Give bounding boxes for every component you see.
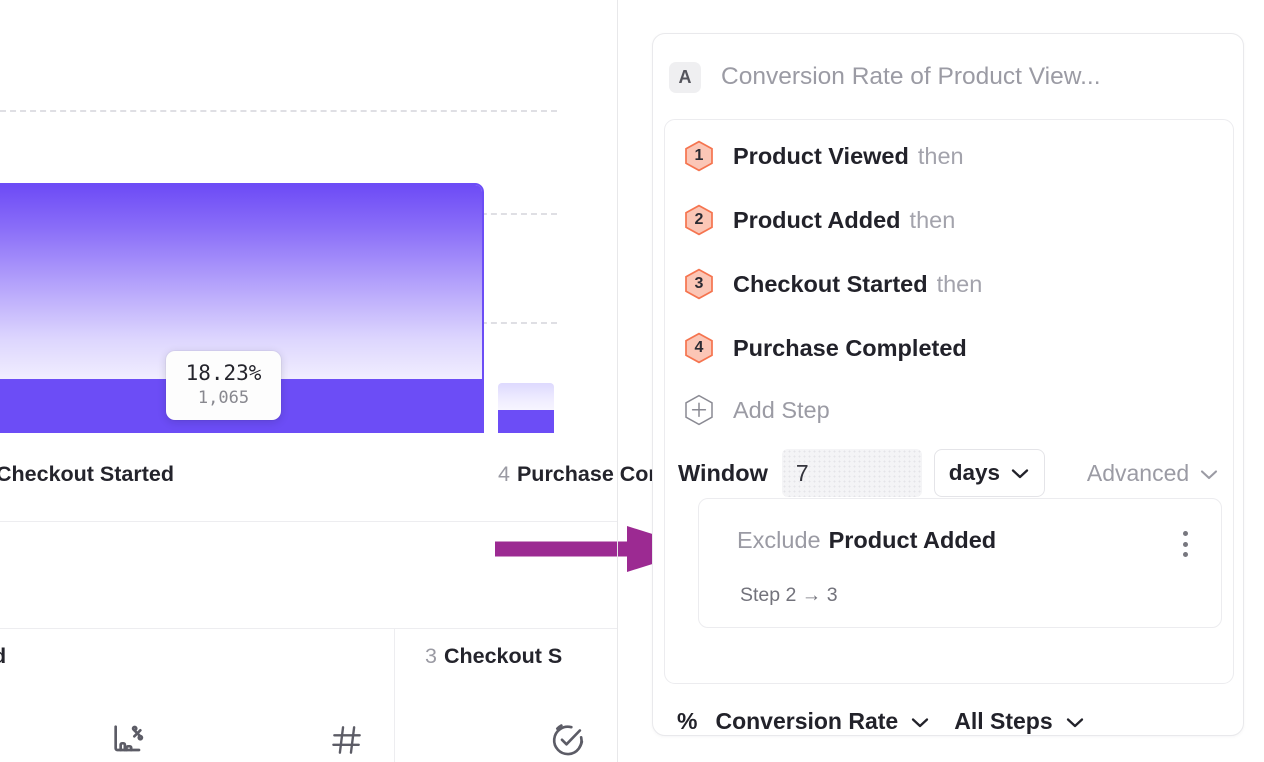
bar-gradient-fill [498, 383, 554, 410]
funnel-config-panel: A Conversion Rate of Product View... 1 P… [652, 33, 1244, 736]
exclude-title: ExcludeProduct Added [737, 527, 996, 554]
step-label[interactable]: Product Added [733, 207, 901, 234]
chevron-down-icon [1199, 460, 1219, 487]
panel-title[interactable]: Conversion Rate of Product View... [721, 63, 1101, 91]
kebab-menu-icon[interactable] [1173, 527, 1197, 561]
exclude-filter-card[interactable]: ExcludeProduct Added Step 2 → 3 [698, 498, 1222, 628]
metric-value: Conversion Rate [715, 708, 898, 735]
add-step-button[interactable]: Add Step [684, 393, 830, 427]
lower-card-number: 3 [425, 644, 437, 668]
add-step-label: Add Step [733, 397, 830, 424]
kebab-dot [1183, 531, 1188, 536]
bar-chart-percent-icon[interactable] [107, 718, 151, 762]
step-label[interactable]: Product Viewed [733, 143, 909, 170]
x-axis-label-text: Checkout Started [0, 462, 174, 486]
lower-card-title-left: d [0, 644, 6, 669]
chevron-down-icon [910, 708, 930, 735]
panel-footer: % Conversion Rate All Steps [677, 706, 1085, 736]
lower-card-title-right: 3Checkout S [425, 644, 562, 669]
window-unit-value: days [949, 460, 1000, 486]
series-letter-badge: A [669, 62, 701, 93]
scope-select[interactable]: All Steps [954, 708, 1084, 735]
screen-root: 18.23% 1,065 Checkout Started 4Purchase … [0, 0, 1264, 762]
step-row-1[interactable]: 1 Product Viewed then [684, 139, 964, 173]
chart-tooltip: 18.23% 1,065 [166, 351, 281, 420]
percent-sign-icon: % [677, 708, 697, 735]
panel-header: A Conversion Rate of Product View... [653, 34, 1245, 120]
x-axis-label-number: 4 [498, 462, 510, 486]
step-label[interactable]: Purchase Completed [733, 335, 967, 362]
step-label[interactable]: Checkout Started [733, 271, 928, 298]
funnel-bar-purchase-completed[interactable] [498, 383, 554, 433]
check-circle-dashed-icon[interactable] [546, 718, 590, 762]
step-number-hexagon-icon: 1 [684, 140, 714, 172]
step-connector: then [910, 207, 956, 234]
hash-icon[interactable] [325, 718, 369, 762]
advanced-toggle[interactable]: Advanced [1087, 460, 1219, 487]
tooltip-count: 1,065 [198, 387, 249, 410]
kebab-dot [1183, 542, 1188, 547]
step-number-hexagon-icon: 2 [684, 204, 714, 236]
lower-card-title-left-text: d [0, 644, 6, 668]
window-unit-select[interactable]: days [934, 449, 1045, 497]
step-number: 3 [695, 276, 704, 292]
step-number-hexagon-icon: 3 [684, 268, 714, 300]
gridline [0, 110, 557, 112]
section-divider [0, 521, 617, 522]
steps-card: 1 Product Viewed then 2 Product Added th… [664, 119, 1234, 684]
window-label: Window [678, 460, 768, 487]
funnel-chart-pane: 18.23% 1,065 Checkout Started 4Purchase … [0, 0, 617, 762]
step-connector: then [918, 143, 964, 170]
scope-value: All Steps [954, 708, 1052, 735]
tooltip-percent: 18.23% [186, 361, 262, 386]
metric-select[interactable]: Conversion Rate [715, 708, 930, 735]
step-number: 1 [695, 148, 704, 164]
x-axis-label-checkout-started: Checkout Started [0, 462, 174, 487]
step-number: 2 [695, 212, 704, 228]
step-row-3[interactable]: 3 Checkout Started then [684, 267, 982, 301]
chevron-down-icon [1010, 460, 1030, 486]
exclude-event-name: Product Added [829, 527, 997, 553]
section-divider-vertical [394, 628, 395, 762]
exclude-prefix: Exclude [737, 527, 821, 553]
window-value-input[interactable]: 7 [782, 449, 922, 497]
step-row-4[interactable]: 4 Purchase Completed [684, 331, 976, 365]
bar-solid-fill [498, 410, 554, 433]
lower-card-title-right-text: Checkout S [444, 644, 562, 668]
section-divider [0, 628, 617, 629]
step-number-hexagon-icon: 4 [684, 332, 714, 364]
plus-hexagon-icon [684, 394, 714, 426]
advanced-label: Advanced [1087, 460, 1189, 487]
pane-divider [617, 0, 618, 762]
exclude-step-range: Step 2 → 3 [740, 584, 838, 607]
window-row: Window 7 days Advanced [678, 449, 1219, 497]
step-row-2[interactable]: 2 Product Added then [684, 203, 955, 237]
step-number: 4 [695, 340, 704, 356]
step-connector: then [937, 271, 983, 298]
chevron-down-icon [1065, 708, 1085, 735]
kebab-dot [1183, 552, 1188, 557]
